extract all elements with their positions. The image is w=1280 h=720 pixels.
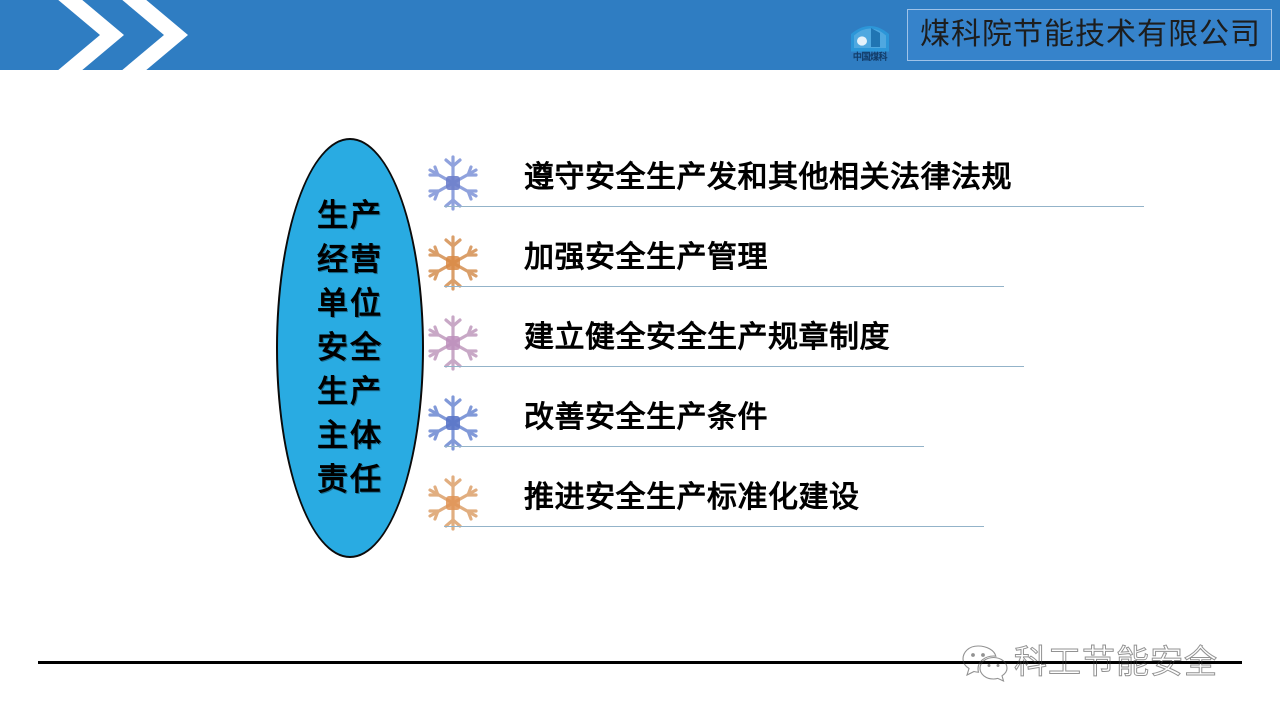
snowflake-icon <box>424 234 482 292</box>
list-item-underline <box>444 286 1004 287</box>
main-topic-oval: 生产经营单位安全生产主体责任 <box>276 138 424 558</box>
main-topic-label: 生产经营单位安全生产主体责任 <box>302 194 398 502</box>
list-item-label: 建立健全安全生产规章制度 <box>524 318 890 358</box>
list-item-label: 加强安全生产管理 <box>524 238 768 278</box>
list-item: 建立健全安全生产规章制度 <box>424 314 1224 394</box>
watermark-label: 科工节能安全 <box>1014 644 1218 680</box>
company-logo: 中国煤科 <box>839 5 901 65</box>
snowflake-icon <box>424 314 482 372</box>
list-item-label: 遵守安全生产发和其他相关法律法规 <box>524 158 1012 198</box>
list-item-underline <box>444 206 1144 207</box>
wechat-watermark: 科工节能安全 <box>962 633 1262 691</box>
slide-content-area: 生产经营单位安全生产主体责任 <box>0 70 1280 720</box>
list-item: 推进安全生产标准化建设 <box>424 474 1224 554</box>
wechat-icon <box>962 642 1008 682</box>
company-logo-caption: 中国煤科 <box>853 52 887 63</box>
company-title-box: 煤科院节能技术有限公司 <box>907 9 1272 61</box>
company-title: 煤科院节能技术有限公司 <box>920 19 1261 51</box>
snowflake-icon <box>424 394 482 452</box>
list-item: 遵守安全生产发和其他相关法律法规 <box>424 154 1224 234</box>
list-item: 改善安全生产条件 <box>424 394 1224 474</box>
zhongguo-meike-logo-icon <box>847 20 893 52</box>
snowflake-icon <box>424 474 482 532</box>
list-item-label: 推进安全生产标准化建设 <box>524 478 860 518</box>
list-item-label: 改善安全生产条件 <box>524 398 768 438</box>
responsibility-list: 遵守安全生产发和其他相关法律法规 <box>424 154 1224 554</box>
list-item-underline <box>444 526 984 527</box>
list-item-underline <box>444 366 1024 367</box>
slide-header-bar: 中国煤科 煤科院节能技术有限公司 <box>0 0 1280 70</box>
double-chevron-right-icon <box>38 0 188 70</box>
header-brand-group: 中国煤科 煤科院节能技术有限公司 <box>839 0 1272 70</box>
snowflake-icon <box>424 154 482 212</box>
list-item-underline <box>444 446 924 447</box>
list-item: 加强安全生产管理 <box>424 234 1224 314</box>
